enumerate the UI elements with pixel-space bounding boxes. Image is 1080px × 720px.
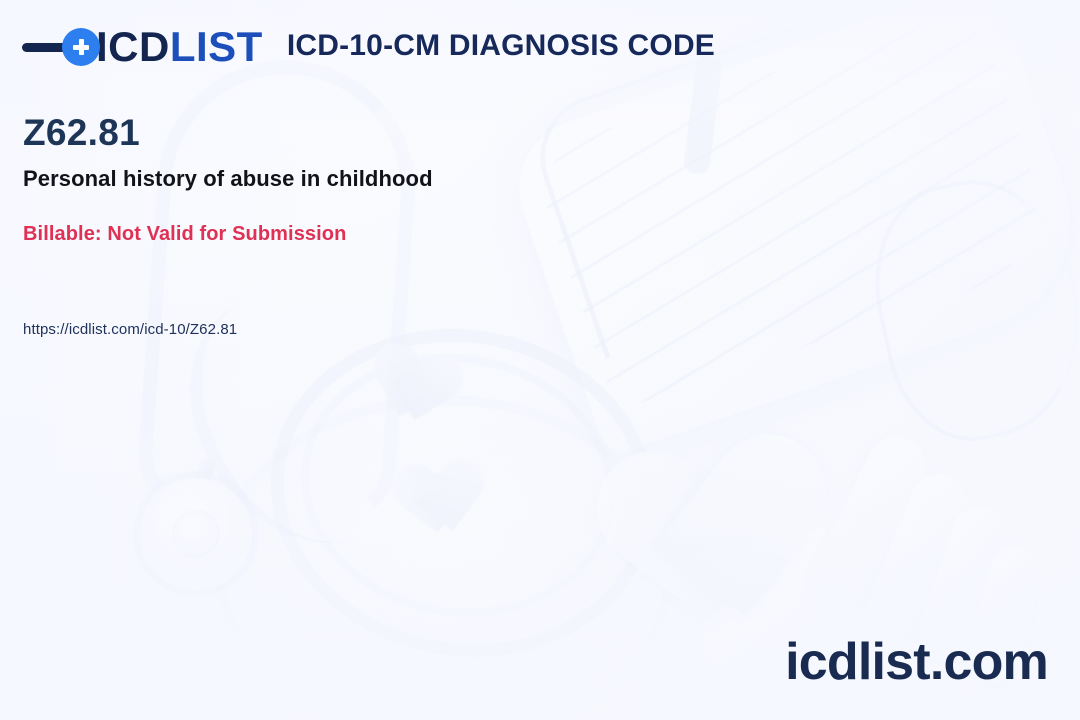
icdlist-logo[interactable]: ICDLIST <box>22 26 263 68</box>
header: ICDLIST ICD-10-CM DIAGNOSIS CODE <box>22 26 715 68</box>
card-content: ICDLIST ICD-10-CM DIAGNOSIS CODE Z62.81 … <box>0 0 1080 720</box>
footer-brand: icdlist.com <box>785 632 1048 692</box>
billable-status: Billable: Not Valid for Submission <box>23 223 346 246</box>
diagnosis-code: Z62.81 <box>23 112 140 154</box>
plus-icon <box>72 38 90 56</box>
page-title: ICD-10-CM DIAGNOSIS CODE <box>287 31 715 64</box>
source-url[interactable]: https://icdlist.com/icd-10/Z62.81 <box>23 321 237 338</box>
logo-text-icd: ICD <box>96 23 170 70</box>
icd-code-card: ICDLIST ICD-10-CM DIAGNOSIS CODE Z62.81 … <box>0 0 1080 720</box>
logo-wordmark: ICDLIST <box>96 26 263 68</box>
diagnosis-description: Personal history of abuse in childhood <box>23 166 433 192</box>
plus-circle-icon <box>62 28 100 66</box>
logo-text-list: LIST <box>170 23 263 70</box>
